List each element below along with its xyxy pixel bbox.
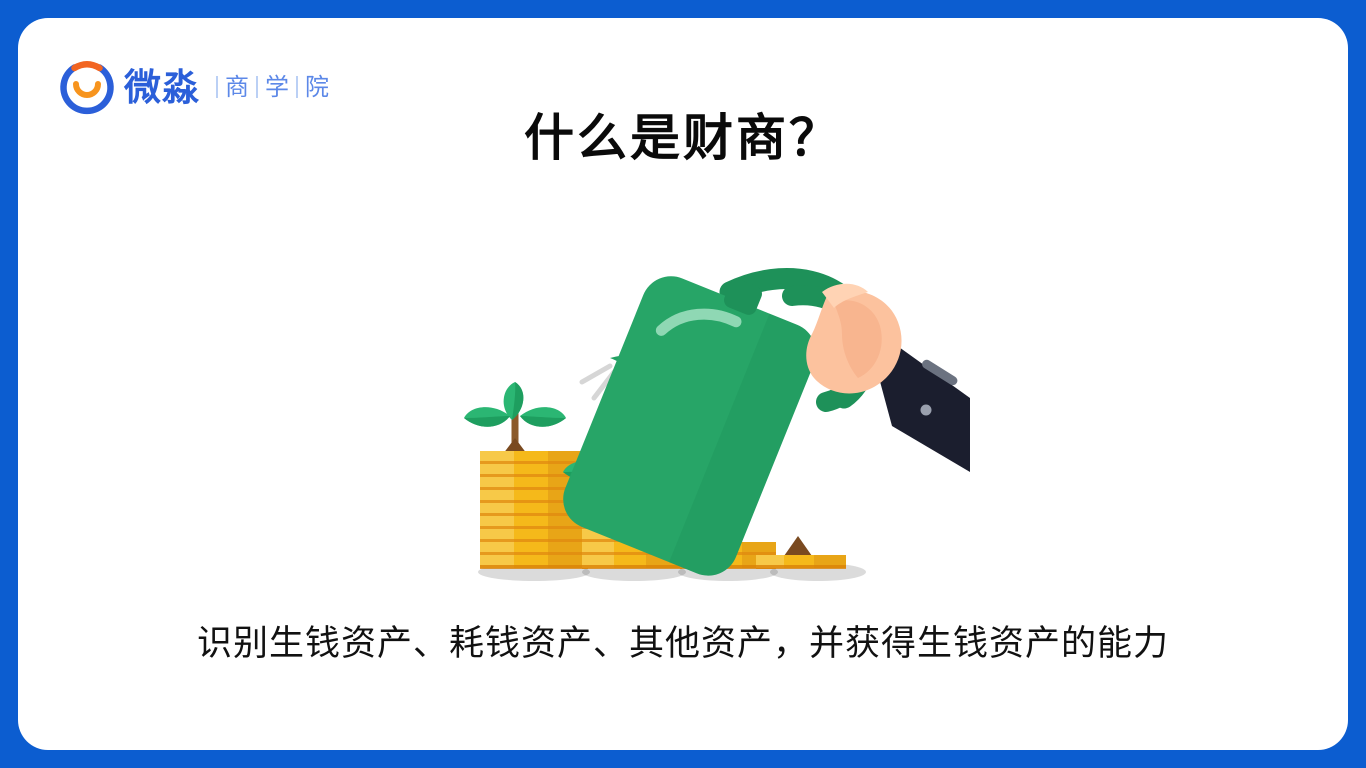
watering-can-money-plants-illustration bbox=[440, 230, 970, 602]
logo-sub-char-1: 商 bbox=[225, 75, 249, 99]
logo-separator-3 bbox=[296, 76, 298, 98]
logo-separator-2 bbox=[256, 76, 258, 98]
soil-mound-4 bbox=[784, 536, 812, 556]
slide-panel: 微淼 商 学 院 什么是财商？ bbox=[18, 18, 1348, 750]
logo-separator-1 bbox=[216, 76, 218, 98]
brand-logo[interactable]: 微淼 商 学 院 bbox=[58, 56, 329, 118]
page-title: 什么是财商？ bbox=[18, 110, 1348, 165]
brand-logo-word: 微淼 bbox=[124, 69, 200, 106]
weimiao-circle-logo-icon bbox=[58, 58, 116, 116]
hand-in-suit-sleeve-icon bbox=[806, 284, 970, 472]
plant-sprout-1 bbox=[464, 382, 566, 460]
logo-sub-char-3: 院 bbox=[305, 75, 329, 99]
logo-sub-char-2: 学 bbox=[265, 75, 289, 99]
slide-caption: 识别生钱资产、耗钱资产、其他资产，并获得生钱资产的能力 bbox=[18, 622, 1348, 668]
brand-logo-subtitle: 商 学 院 bbox=[209, 75, 329, 99]
coin-column-4 bbox=[756, 555, 846, 569]
